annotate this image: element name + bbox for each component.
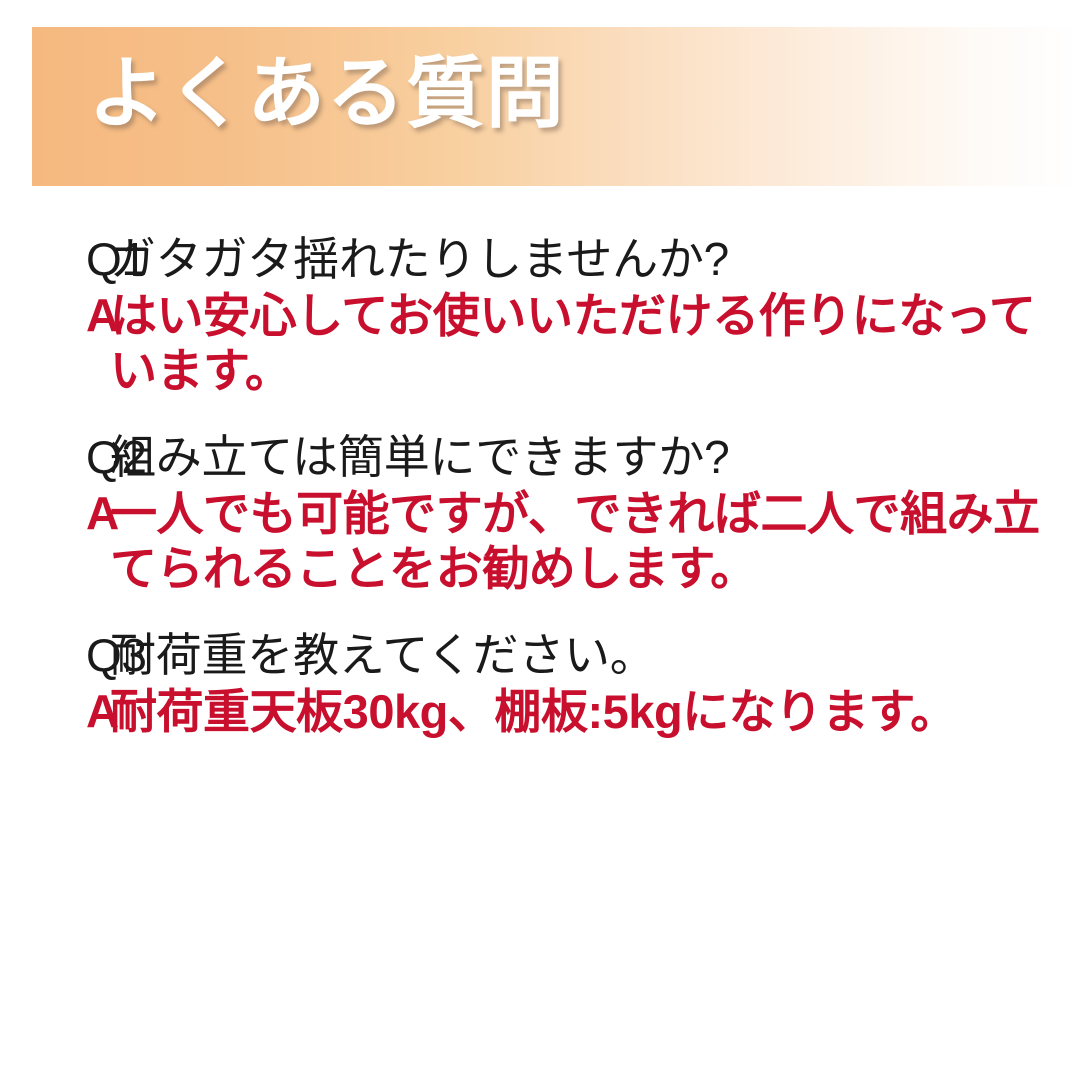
answer-text: 耐荷重天板30kg、棚板:5kgになります。 <box>110 685 957 738</box>
answer-text-wrap: はい安心してお使いいただける作りになっています。 <box>110 288 1080 398</box>
faq-answer-row: A 一人でも可能ですが、できれば二人で組み立てられることをお勧めします。 <box>0 486 1080 596</box>
faq-list: Q1 ガタガタ揺れたりしませんか? A はい安心してお使いいただける作りになって… <box>0 232 1080 739</box>
header-banner: よくある質問 <box>32 27 1080 186</box>
faq-item: Q1 ガタガタ揺れたりしませんか? A はい安心してお使いいただける作りになって… <box>0 232 1080 398</box>
page-title: よくある質問 <box>88 55 565 133</box>
question-text-wrap: 耐荷重を教えてください。 <box>110 628 1080 682</box>
answer-text-wrap: 一人でも可能ですが、できれば二人で組み立てられることをお勧めします。 <box>110 486 1080 596</box>
faq-page: よくある質問 Q1 ガタガタ揺れたりしませんか? A はい安心してお使いいただけ… <box>0 0 1080 1080</box>
answer-text: はい安心してお使いいただける作りになっています。 <box>110 289 1035 397</box>
answer-label: A <box>0 288 110 342</box>
answer-label: A <box>0 486 110 540</box>
question-text-wrap: ガタガタ揺れたりしませんか? <box>110 232 1080 286</box>
question-text: 組み立ては簡単にできますか? <box>110 431 729 483</box>
answer-label: A <box>0 684 110 738</box>
question-label: Q3 <box>0 628 110 682</box>
faq-question-row: Q3 耐荷重を教えてください。 <box>0 628 1080 682</box>
faq-answer-row: A はい安心してお使いいただける作りになっています。 <box>0 288 1080 398</box>
faq-item: Q3 耐荷重を教えてください。 A 耐荷重天板30kg、棚板:5kgになります。 <box>0 628 1080 739</box>
faq-question-row: Q1 ガタガタ揺れたりしませんか? <box>0 232 1080 286</box>
faq-answer-row: A 耐荷重天板30kg、棚板:5kgになります。 <box>0 684 1080 739</box>
answer-text: 一人でも可能ですが、できれば二人で組み立てられることをお勧めします。 <box>110 487 1040 595</box>
question-text: ガタガタ揺れたりしませんか? <box>110 233 729 285</box>
question-label: Q1 <box>0 232 110 286</box>
answer-text-wrap: 耐荷重天板30kg、棚板:5kgになります。 <box>110 684 1080 739</box>
question-text-wrap: 組み立ては簡単にできますか? <box>110 430 1080 484</box>
faq-item: Q2 組み立ては簡単にできますか? A 一人でも可能ですが、できれば二人で組み立… <box>0 430 1080 596</box>
faq-question-row: Q2 組み立ては簡単にできますか? <box>0 430 1080 484</box>
question-text: 耐荷重を教えてください。 <box>110 629 656 681</box>
question-label: Q2 <box>0 430 110 484</box>
